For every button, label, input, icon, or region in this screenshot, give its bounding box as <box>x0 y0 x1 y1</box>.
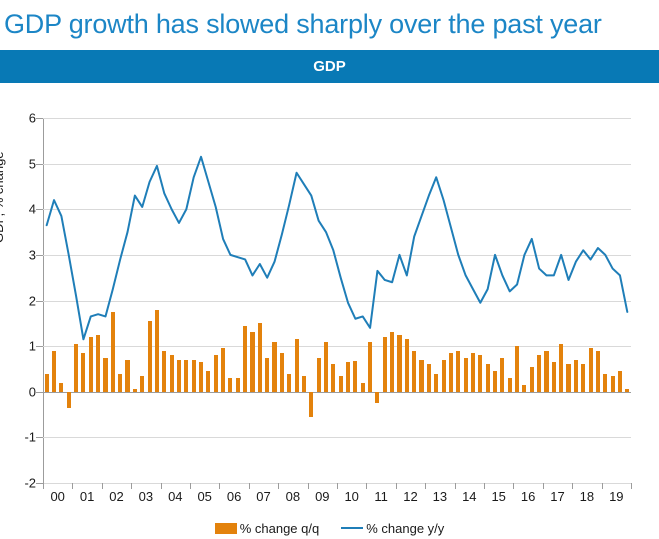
x-axis-label: 14 <box>462 489 476 504</box>
chart-banner-title: GDP <box>0 50 659 83</box>
x-axis-label: 11 <box>374 489 388 504</box>
x-axis-label: 19 <box>609 489 623 504</box>
x-tick-15 <box>484 483 485 489</box>
y-tick-0 <box>36 392 43 393</box>
x-tick-07 <box>249 483 250 489</box>
x-tick-10 <box>337 483 338 489</box>
y-tick--2 <box>36 483 43 484</box>
x-axis-label: 13 <box>433 489 447 504</box>
x-tick-19 <box>602 483 603 489</box>
x-tick-06 <box>219 483 220 489</box>
plot-area <box>43 118 631 483</box>
chart-banner: GDP <box>0 50 659 83</box>
x-axis-label: 08 <box>286 489 300 504</box>
x-tick-05 <box>190 483 191 489</box>
x-tick-04 <box>161 483 162 489</box>
x-axis-label: 10 <box>344 489 358 504</box>
legend-label-line: % change y/y <box>366 521 444 536</box>
y-axis-label: -2 <box>24 476 36 491</box>
x-tick-18 <box>572 483 573 489</box>
x-tick-16 <box>513 483 514 489</box>
x-tick-08 <box>278 483 279 489</box>
x-axis-label: 16 <box>521 489 535 504</box>
x-axis-label: 06 <box>227 489 241 504</box>
x-axis-label: 01 <box>80 489 94 504</box>
chart-area: -2-10123456 GDP, % change 00010203040506… <box>0 95 659 505</box>
x-tick-02 <box>102 483 103 489</box>
y-axis-label: 4 <box>29 202 36 217</box>
x-axis-label: 18 <box>580 489 594 504</box>
y-tick-2 <box>36 301 43 302</box>
line-path <box>47 157 628 340</box>
x-tick-14 <box>455 483 456 489</box>
x-tick-00 <box>43 483 44 489</box>
x-tick-03 <box>131 483 132 489</box>
y-tick-5 <box>36 164 43 165</box>
y-tick-3 <box>36 255 43 256</box>
x-axis-label: 07 <box>256 489 270 504</box>
legend-item-bar: % change q/q <box>215 521 320 536</box>
x-axis-label: 02 <box>109 489 123 504</box>
x-axis-label: 05 <box>197 489 211 504</box>
x-tick-01 <box>72 483 73 489</box>
y-axis-label: 6 <box>29 111 36 126</box>
x-tick-09 <box>308 483 309 489</box>
y-axis-title: GDP, % change <box>0 83 6 243</box>
chart-legend: % change q/q % change y/y <box>0 517 659 539</box>
legend-swatch-bar-icon <box>215 523 237 534</box>
y-axis-label: -1 <box>24 430 36 445</box>
y-axis-label: 2 <box>29 293 36 308</box>
x-tick-12 <box>396 483 397 489</box>
x-axis: 0001020304050607080910111213141516171819 <box>43 483 631 509</box>
legend-label-bar: % change q/q <box>240 521 320 536</box>
x-axis-label: 15 <box>491 489 505 504</box>
y-tick-6 <box>36 118 43 119</box>
x-axis-label: 03 <box>139 489 153 504</box>
page-headline: GDP growth has slowed sharply over the p… <box>4 4 655 44</box>
legend-swatch-line-icon <box>341 527 363 529</box>
x-tick-17 <box>543 483 544 489</box>
y-tick--1 <box>36 437 43 438</box>
y-axis-label: 0 <box>29 384 36 399</box>
x-axis-label: 12 <box>403 489 417 504</box>
x-axis-label: 04 <box>168 489 182 504</box>
y-axis-label: 5 <box>29 156 36 171</box>
x-axis-label: 09 <box>315 489 329 504</box>
y-tick-1 <box>36 346 43 347</box>
legend-item-line: % change y/y <box>341 521 444 536</box>
line-series <box>43 118 631 483</box>
y-tick-4 <box>36 209 43 210</box>
x-tick-end <box>631 483 632 489</box>
x-tick-11 <box>366 483 367 489</box>
chart-page: GDP growth has slowed sharply over the p… <box>0 0 659 539</box>
x-axis-label: 00 <box>50 489 64 504</box>
x-tick-13 <box>425 483 426 489</box>
y-axis-label: 3 <box>29 247 36 262</box>
y-axis-label: 1 <box>29 339 36 354</box>
x-axis-label: 17 <box>550 489 564 504</box>
